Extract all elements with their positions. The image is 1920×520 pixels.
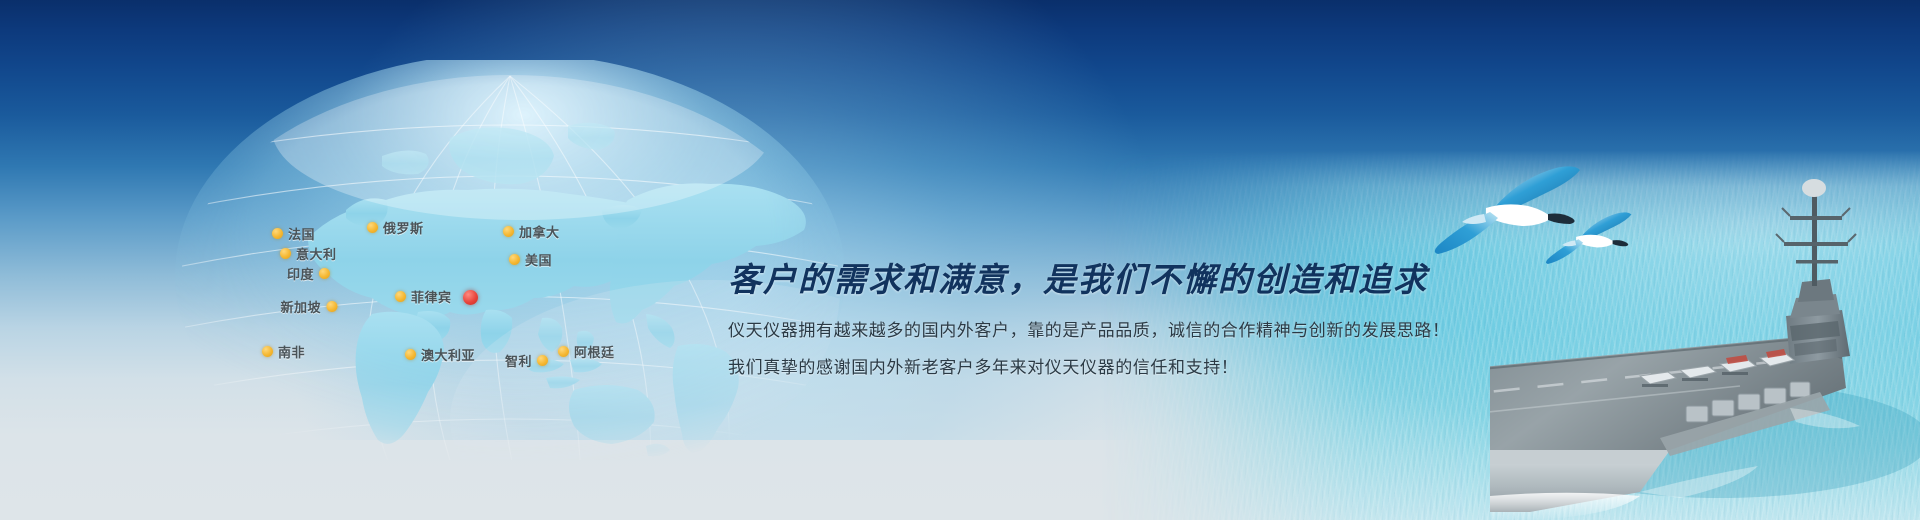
map-marker-label: 南非	[278, 342, 305, 361]
map-marker-4[interactable]: 印度	[287, 264, 330, 283]
map-marker-6[interactable]: 菲律宾	[395, 287, 452, 306]
aircraft-carrier-photo	[1490, 120, 1920, 520]
hero-banner: 法国意大利俄罗斯中国印度新加坡菲律宾南非澳大利亚加拿大美国智利阿根廷	[0, 0, 1920, 520]
map-pin-highlight-icon	[463, 290, 478, 305]
subline-2: 我们真挚的感谢国内外新老客户多年来对仪天仪器的信任和支持！	[728, 357, 1488, 380]
map-marker-11[interactable]: 智利	[505, 351, 548, 370]
map-marker-2[interactable]: 俄罗斯	[367, 218, 424, 237]
map-marker-12[interactable]: 阿根廷	[558, 342, 615, 361]
map-marker-label: 法国	[288, 224, 315, 243]
map-pin-icon	[280, 248, 291, 259]
map-marker-8[interactable]: 澳大利亚	[405, 345, 475, 364]
map-marker-label: 新加坡	[280, 297, 321, 316]
map-pin-icon	[367, 222, 378, 233]
map-marker-label: 意大利	[296, 244, 337, 263]
map-marker-1[interactable]: 意大利	[280, 244, 337, 263]
map-pin-icon	[319, 268, 330, 279]
subline-1: 仪天仪器拥有越来越多的国内外客户，靠的是产品品质，诚信的合作精神与创新的发展思路…	[728, 320, 1488, 343]
map-pin-icon	[503, 226, 514, 237]
map-pin-icon	[537, 355, 548, 366]
headline: 客户的需求和满意，是我们不懈的创造和追求	[728, 262, 1488, 298]
map-pin-icon	[272, 228, 283, 239]
map-marker-9[interactable]: 加拿大	[503, 222, 560, 241]
map-marker-label: 印度	[287, 264, 314, 283]
map-pin-icon	[395, 291, 406, 302]
map-pin-icon	[558, 346, 569, 357]
map-pin-icon	[509, 254, 520, 265]
map-marker-0[interactable]: 法国	[272, 224, 315, 243]
map-marker-label: 澳大利亚	[421, 345, 475, 364]
map-marker-10[interactable]: 美国	[509, 250, 552, 269]
map-marker-label: 加拿大	[519, 222, 560, 241]
promo-copy-block: 客户的需求和满意，是我们不懈的创造和追求 仪天仪器拥有越来越多的国内外客户，靠的…	[728, 262, 1488, 380]
map-marker-label: 俄罗斯	[383, 218, 424, 237]
map-marker-3[interactable]: 中国	[463, 290, 478, 305]
map-pin-icon	[326, 301, 337, 312]
map-marker-label: 智利	[505, 351, 532, 370]
map-marker-7[interactable]: 南非	[262, 342, 305, 361]
map-pin-icon	[262, 346, 273, 357]
map-marker-label: 阿根廷	[574, 342, 615, 361]
map-marker-label: 菲律宾	[411, 287, 452, 306]
map-pin-icon	[405, 349, 416, 360]
map-marker-label: 美国	[525, 250, 552, 269]
map-marker-5[interactable]: 新加坡	[280, 297, 337, 316]
